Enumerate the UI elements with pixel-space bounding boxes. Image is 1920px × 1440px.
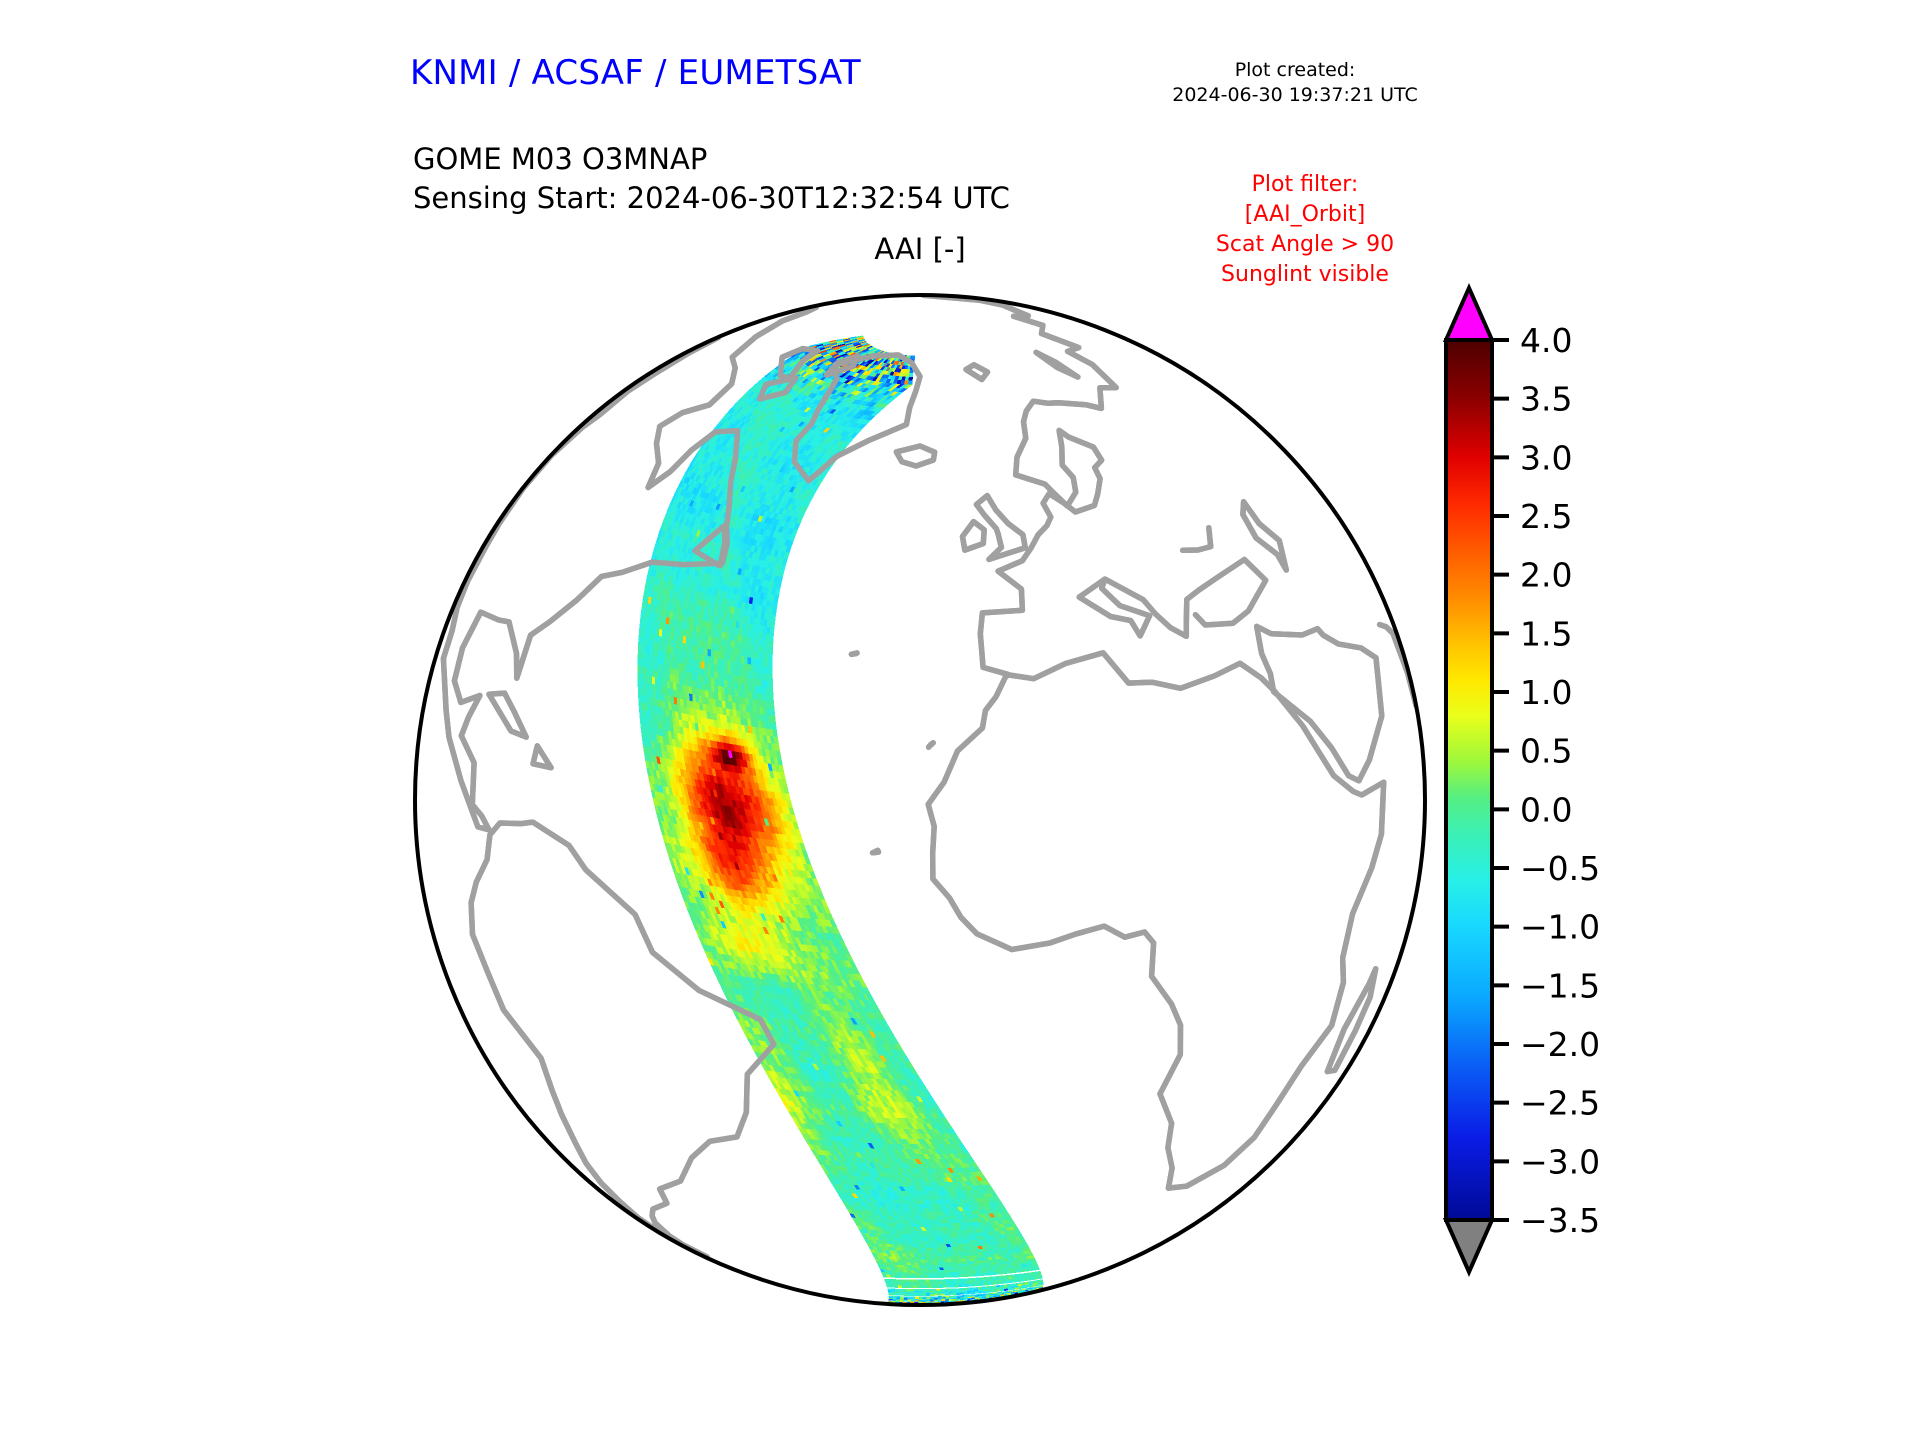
swath-pixel — [714, 658, 717, 666]
swath-pixel — [909, 377, 913, 381]
swath-pixel — [646, 668, 649, 676]
product-name: GOME M03 O3MNAP — [413, 140, 1010, 179]
swath-pixel — [731, 675, 735, 683]
swath-pixel — [698, 661, 701, 669]
swath-pixel — [758, 653, 762, 660]
swath-pixel — [751, 672, 755, 679]
swath-pixel — [644, 667, 647, 675]
swath-pixel — [689, 659, 692, 667]
swath-pixel — [714, 665, 717, 673]
swath-pixel — [769, 681, 773, 688]
swath-pixel — [644, 653, 647, 661]
swath-pixel — [728, 667, 731, 675]
swath-pixel — [695, 667, 698, 675]
swath-pixel — [741, 663, 744, 670]
swath-pixel — [755, 659, 759, 666]
swath-pixel — [718, 679, 722, 687]
swath-pixel — [765, 667, 769, 674]
swath-pixel — [755, 672, 759, 679]
swath-pixel — [664, 659, 667, 667]
swath-pixel — [734, 669, 738, 677]
swath-pixel — [734, 662, 737, 670]
sensing-start: Sensing Start: 2024-06-30T12:32:54 UTC — [413, 179, 1010, 218]
swath-pixel — [647, 654, 650, 662]
swath-pixel — [711, 664, 714, 672]
swath-pixel — [765, 660, 769, 667]
swath-pixel — [708, 649, 712, 657]
swath-pixel — [679, 663, 682, 671]
swath-pixel — [708, 643, 712, 651]
swath-pixel — [649, 669, 652, 677]
swath-pixel — [670, 675, 673, 683]
swath-pixel — [762, 673, 766, 680]
swath-pixel — [721, 659, 724, 667]
swath-pixel — [638, 665, 641, 673]
swath-pixel — [661, 651, 664, 659]
swath-pixel — [773, 730, 778, 738]
swath-pixel — [738, 669, 742, 677]
swath-pixel — [769, 654, 773, 661]
product-block: GOME M03 O3MNAP Sensing Start: 2024-06-3… — [413, 140, 1010, 217]
swath-pixel — [658, 664, 661, 672]
swath-pixel — [655, 671, 658, 679]
swath-pixel — [721, 652, 724, 660]
swath-pixel — [775, 589, 780, 596]
swath-pixel — [673, 669, 676, 677]
swath-pixel — [774, 737, 779, 745]
swath-pixel — [773, 602, 777, 609]
swath-pixel — [745, 650, 749, 657]
swath-pixel — [682, 671, 685, 679]
swath-pixel — [762, 667, 766, 674]
swath-pixel — [708, 670, 711, 678]
swath-pixel — [721, 666, 724, 674]
swath-pixel — [670, 654, 673, 662]
swath-pixel — [741, 670, 745, 678]
swath-pixel — [646, 661, 649, 669]
swath-pixel — [741, 677, 745, 685]
swath-pixel — [701, 669, 704, 677]
plot-filter-block: Plot filter: [AAI_Orbit] Scat Angle > 90… — [1140, 170, 1470, 291]
swath-pixel — [734, 676, 738, 684]
swath-pixel — [770, 628, 774, 635]
swath-pixel — [701, 662, 704, 670]
plot-created-label: Plot created: — [1110, 58, 1480, 83]
swath-pixel — [714, 651, 718, 659]
swath-pixel — [908, 381, 912, 385]
swath-pixel — [734, 655, 738, 663]
plot-created-block: Plot created: 2024-06-30 19:37:21 UTC — [1110, 58, 1480, 108]
swath-pixel — [772, 723, 776, 731]
swath-pixel — [745, 664, 748, 671]
plot-filter-heading: Plot filter: — [1140, 170, 1470, 200]
swath-pixel — [686, 658, 689, 666]
swath-pixel — [649, 655, 652, 663]
swath-pixel — [728, 654, 732, 662]
swath-pixel — [708, 663, 711, 671]
swath-pixel — [724, 653, 728, 661]
swath-pixel — [705, 663, 708, 671]
swath-pixel — [771, 615, 775, 622]
swath-pixel — [649, 662, 652, 670]
swath-pixel — [724, 674, 728, 682]
swath-pixel — [734, 648, 738, 655]
swath-pixel — [661, 658, 664, 666]
swath-pixel — [682, 657, 685, 665]
swath-pixel — [755, 652, 759, 659]
swath-pixel — [652, 663, 655, 671]
swath-pixel — [758, 666, 762, 673]
swath-pixel — [695, 674, 698, 682]
swath-pixel — [724, 646, 728, 654]
swath-pixel — [718, 652, 721, 660]
swath-pixel — [641, 659, 644, 667]
swath-pixel — [745, 671, 749, 679]
globe-svg — [400, 280, 1440, 1320]
swath-pixel — [770, 695, 774, 702]
globe-map — [400, 280, 1440, 1320]
swath-pixel — [711, 671, 714, 679]
swath-pixel — [741, 656, 745, 663]
swath-pixel — [769, 675, 773, 682]
swath-pixel — [748, 658, 752, 665]
swath-pixel — [738, 663, 741, 670]
swath-pixel — [689, 673, 692, 681]
swath-pixel — [644, 674, 647, 682]
swath-pixel — [912, 356, 915, 359]
plot-filter-line-2: Scat Angle > 90 — [1140, 230, 1470, 260]
swath-pixel — [741, 650, 745, 657]
plot-created-time: 2024-06-30 19:37:21 UTC — [1110, 83, 1480, 108]
swath-pixel — [769, 688, 773, 695]
swath-pixel — [676, 655, 679, 663]
swath-pixel — [714, 672, 717, 680]
swath-pixel — [686, 665, 689, 673]
swath-pixel — [676, 670, 679, 678]
swath-pixel — [692, 659, 695, 667]
swath-pixel — [770, 702, 774, 709]
swath-pixel — [695, 660, 698, 668]
swath-pixel — [769, 661, 773, 668]
swath-pixel — [679, 656, 682, 664]
swath-pixel — [765, 654, 769, 661]
swath-pixel — [748, 671, 752, 679]
swath-pixel — [728, 661, 731, 669]
swath-pixel — [774, 595, 779, 602]
swath-pixel — [772, 608, 776, 615]
swath-pixel — [751, 658, 755, 665]
swath-pixel — [909, 373, 913, 377]
swath-pixel — [728, 647, 732, 654]
swath-pixel — [644, 660, 647, 668]
swath-pixel — [762, 653, 766, 660]
swath-pixel — [661, 665, 664, 673]
swath-pixel — [751, 651, 755, 658]
swath-pixel — [667, 653, 670, 661]
swath-pixel — [664, 666, 667, 674]
swath-pixel — [759, 646, 763, 653]
swath-pixel — [658, 657, 661, 665]
swath-pixel — [770, 634, 774, 641]
swath-pixel — [667, 660, 670, 668]
swath-pixel — [771, 716, 775, 724]
plot-filter-line-1: [AAI_Orbit] — [1140, 200, 1470, 230]
swath-pixel — [755, 666, 759, 673]
swath-pixel — [731, 668, 735, 676]
swath-pixel — [724, 660, 727, 668]
swath-pixel — [711, 657, 714, 665]
swath-pixel — [745, 677, 749, 685]
swath-pixel — [738, 676, 742, 684]
swath-pixel — [910, 370, 913, 374]
swath-pixel — [673, 662, 676, 670]
swath-pixel — [705, 656, 708, 664]
swath-pixel — [638, 658, 641, 666]
swath-pixel — [718, 665, 721, 673]
swath-pixel — [758, 659, 762, 666]
swath-pixel — [655, 656, 658, 664]
swath-pixel — [655, 664, 658, 672]
swath-pixel — [638, 672, 641, 680]
swath-pixel — [718, 659, 721, 667]
swath-pixel — [771, 621, 775, 628]
swath-pixel — [715, 644, 719, 652]
swath-pixel — [682, 664, 685, 672]
swath-pixel — [658, 672, 661, 680]
swath-pixel — [769, 641, 773, 648]
swath-pixel — [748, 664, 752, 671]
swath-pixel — [698, 668, 701, 676]
swath-pixel — [652, 670, 655, 678]
plot-page: KNMI / ACSAF / EUMETSAT Plot created: 20… — [0, 0, 1920, 1440]
swath-pixel — [769, 647, 773, 654]
swath-pixel — [689, 652, 692, 660]
swath-pixel — [673, 655, 676, 663]
swath-pixel — [724, 667, 727, 675]
swath-pixel — [676, 662, 679, 670]
swath-pixel — [748, 651, 752, 658]
swath-pixel — [701, 655, 704, 663]
swath-pixel — [758, 673, 762, 680]
swath-pixel — [695, 653, 698, 661]
swath-pixel — [647, 675, 650, 683]
swath-pixel — [751, 665, 755, 672]
swath-pixel — [762, 660, 766, 667]
organisation-title: KNMI / ACSAF / EUMETSAT — [410, 53, 861, 93]
variable-title: AAI [-] — [760, 232, 1080, 266]
swath-pixel — [689, 666, 692, 674]
swath-pixel — [765, 674, 769, 681]
swath-pixel — [652, 656, 655, 664]
swath-pixel — [705, 669, 708, 677]
swath-pixel — [698, 654, 701, 662]
swath-pixel — [708, 656, 711, 664]
swath-pixel — [738, 656, 742, 664]
swath-pixel — [745, 657, 749, 664]
swath-pixel — [731, 654, 734, 662]
swath-pixel — [771, 709, 775, 717]
swath-pixel — [692, 666, 695, 674]
swath-pixel — [731, 661, 734, 669]
swath-pixel — [752, 679, 756, 686]
swath-pixel — [769, 668, 773, 675]
swath-pixel — [670, 661, 673, 669]
swath-pixel — [670, 668, 673, 676]
swath-pixel — [748, 678, 752, 686]
swath-pixel — [738, 649, 742, 657]
swath-pixel — [667, 667, 670, 675]
swath-pixel — [692, 673, 695, 681]
